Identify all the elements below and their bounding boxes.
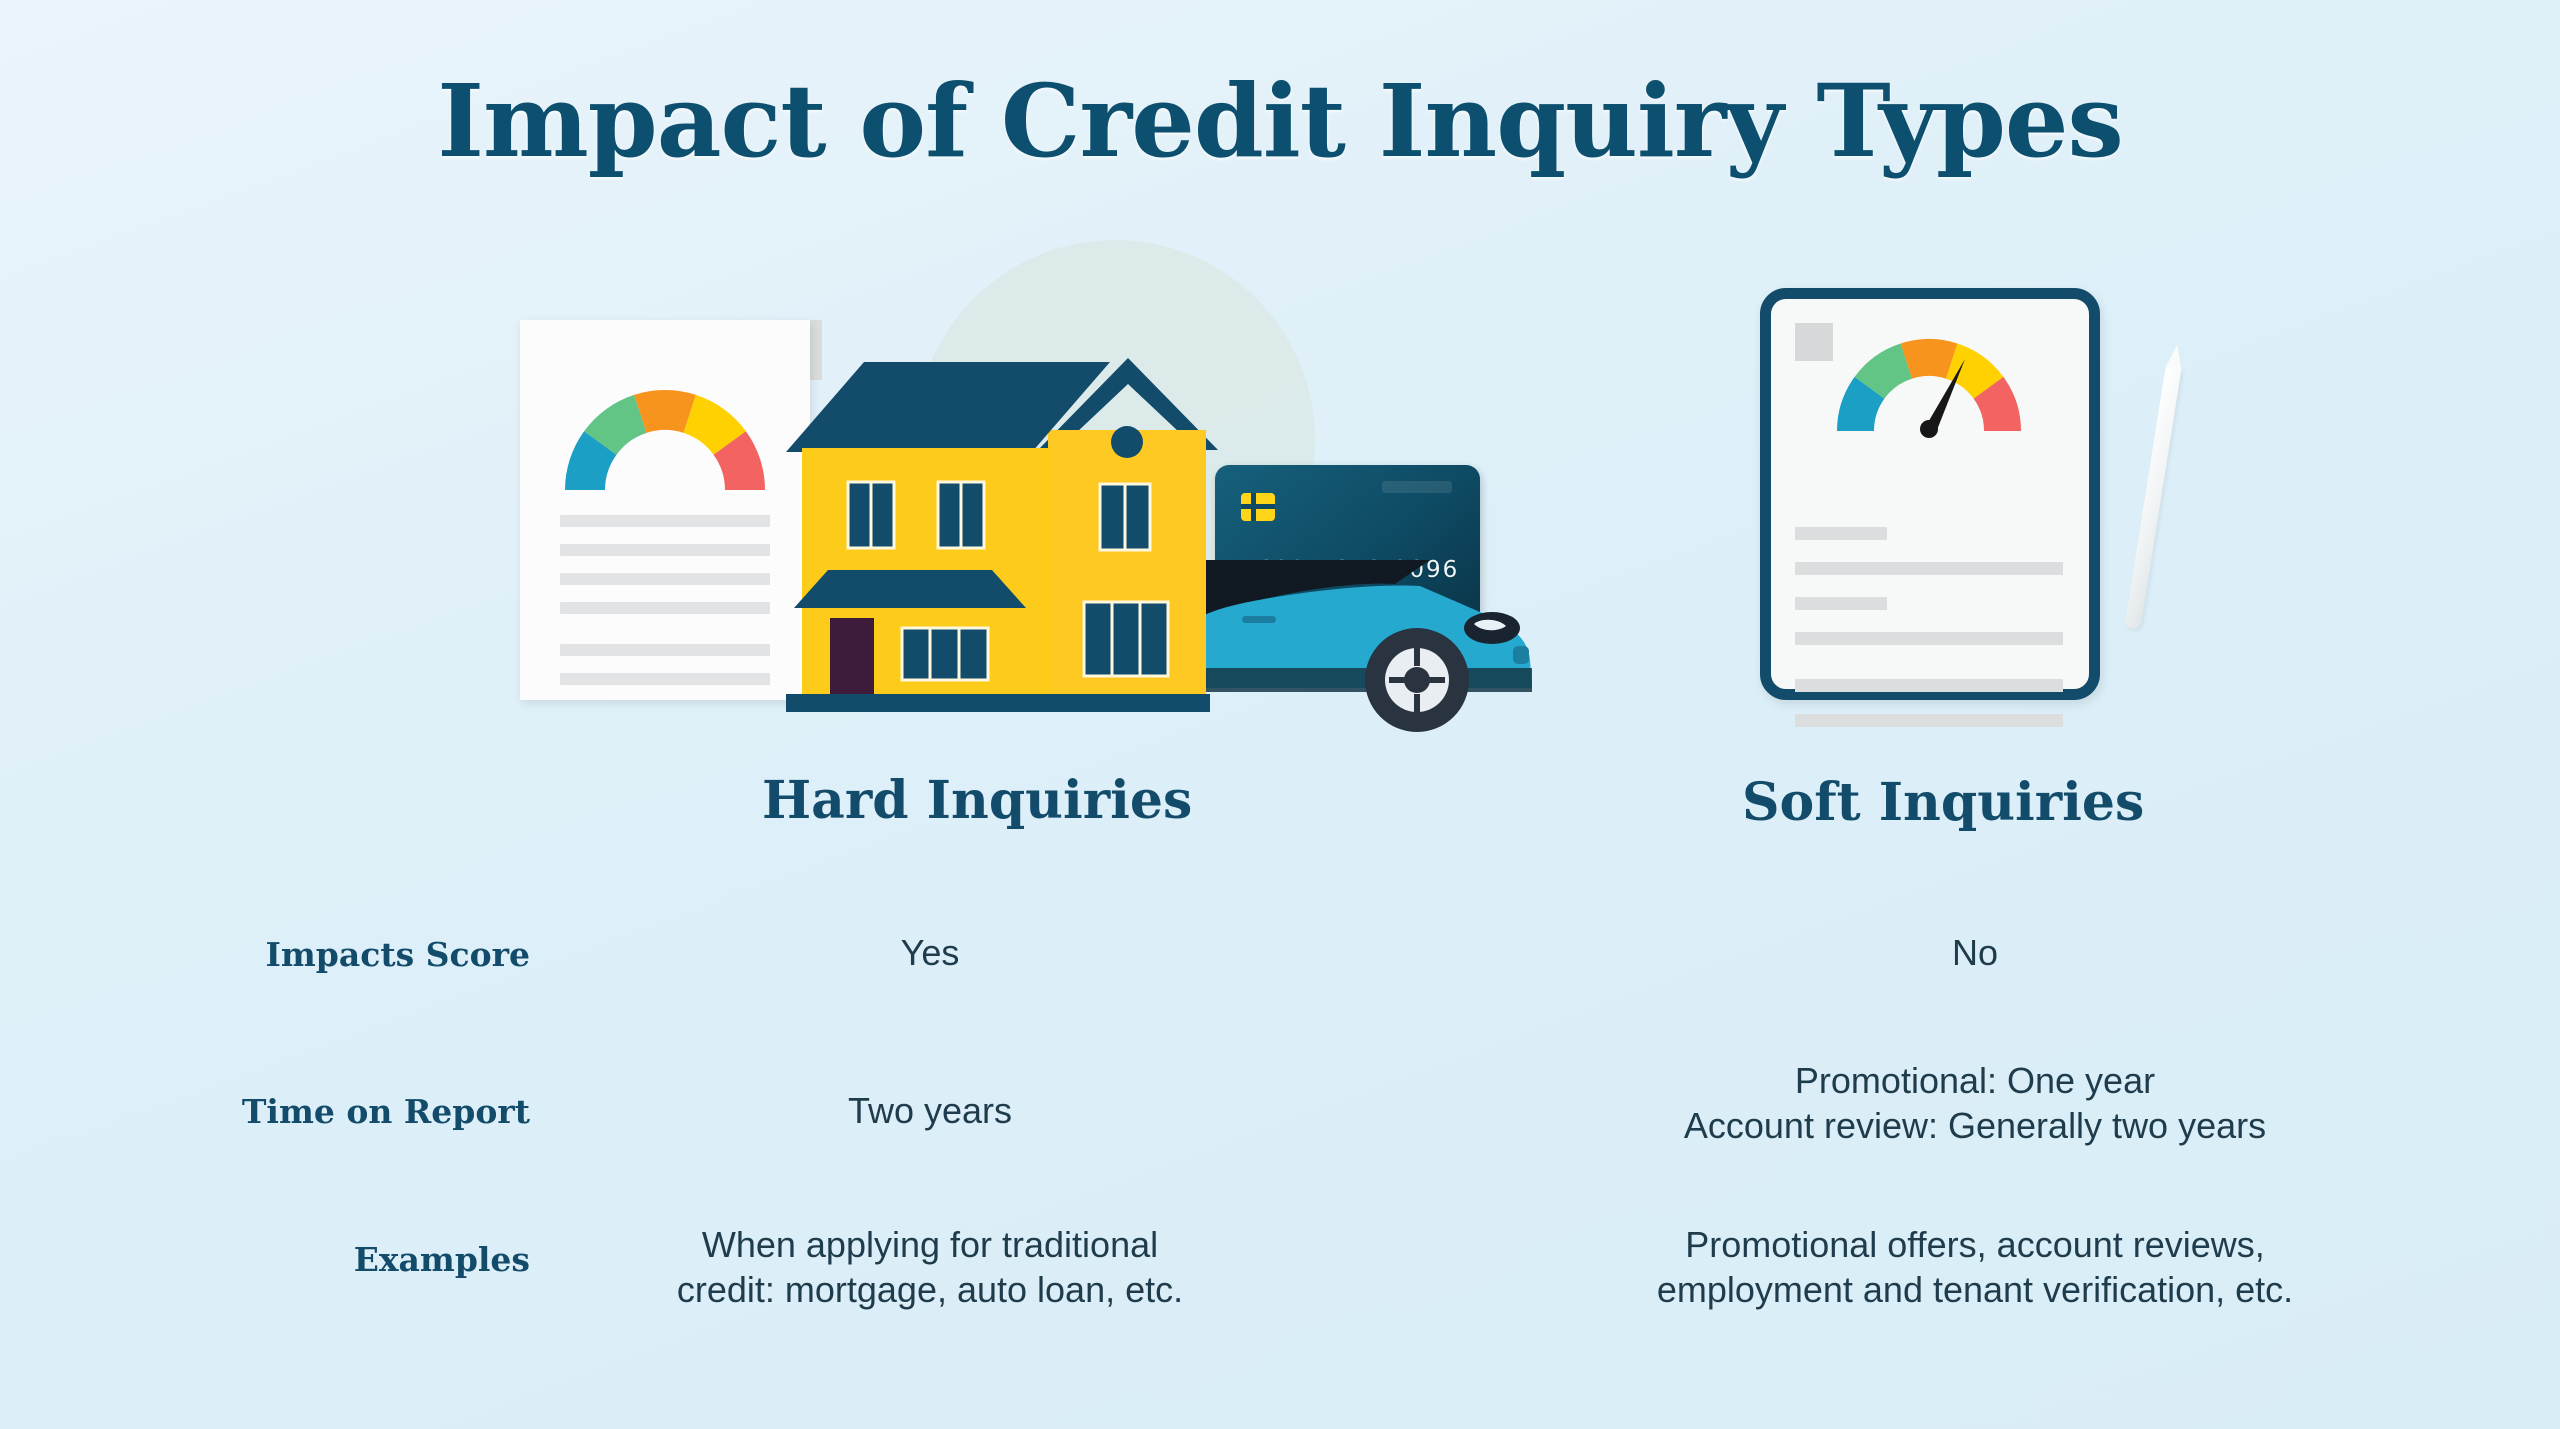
column-header-hard-label: Hard Inquiries: [760, 770, 1194, 831]
paper-text-lines: [560, 515, 770, 702]
cell-soft-time-line-2: Account review: Generally two years: [1470, 1103, 2480, 1148]
cell-hard-impacts-score: Yes: [560, 930, 1300, 975]
cell-soft-impacts-score: No: [1470, 930, 2480, 975]
row-label-impacts-score: Impacts Score: [110, 935, 530, 974]
cell-soft-examples-line-1: Promotional offers, account reviews,: [1470, 1222, 2480, 1267]
document-header-block: [1795, 323, 1833, 361]
car-icon: [1180, 520, 1560, 740]
credit-score-gauge-icon: [1829, 327, 2029, 439]
credit-report-document-icon: [1760, 288, 2100, 700]
cell-hard-examples-line-2: credit: mortgage, auto loan, etc.: [560, 1267, 1300, 1312]
row-label-time-on-report: Time on Report: [110, 1092, 530, 1131]
infographic-canvas: Impact of Credit Inquiry Types 1632 56: [0, 0, 2560, 1429]
credit-report-paper-icon: [520, 320, 810, 700]
house-icon: [780, 340, 1220, 720]
document-text-lines: [1795, 527, 2063, 749]
page-title: Impact of Credit Inquiry Types: [0, 62, 2560, 180]
column-header-soft-label: Soft Inquiries: [1740, 772, 2146, 833]
cell-hard-examples-line-1: When applying for traditional: [560, 1222, 1300, 1267]
cell-hard-examples: When applying for traditional credit: mo…: [560, 1222, 1300, 1312]
credit-score-gauge-icon: [550, 375, 780, 495]
cell-soft-time-on-report: Promotional: One year Account review: Ge…: [1470, 1058, 2480, 1148]
row-label-examples: Examples: [110, 1240, 530, 1279]
column-header-hard: Hard Inquiries: [760, 770, 1194, 831]
card-chip-icon: [1241, 493, 1275, 521]
pencil-icon: [2124, 365, 2181, 629]
column-header-soft: Soft Inquiries: [1740, 772, 2146, 833]
cell-soft-examples-line-2: employment and tenant verification, etc.: [1470, 1267, 2480, 1312]
cell-soft-examples: Promotional offers, account reviews, emp…: [1470, 1222, 2480, 1312]
cell-hard-time-on-report: Two years: [560, 1088, 1300, 1133]
cell-soft-time-line-1: Promotional: One year: [1470, 1058, 2480, 1103]
card-magnetic-strip: [1382, 481, 1452, 493]
